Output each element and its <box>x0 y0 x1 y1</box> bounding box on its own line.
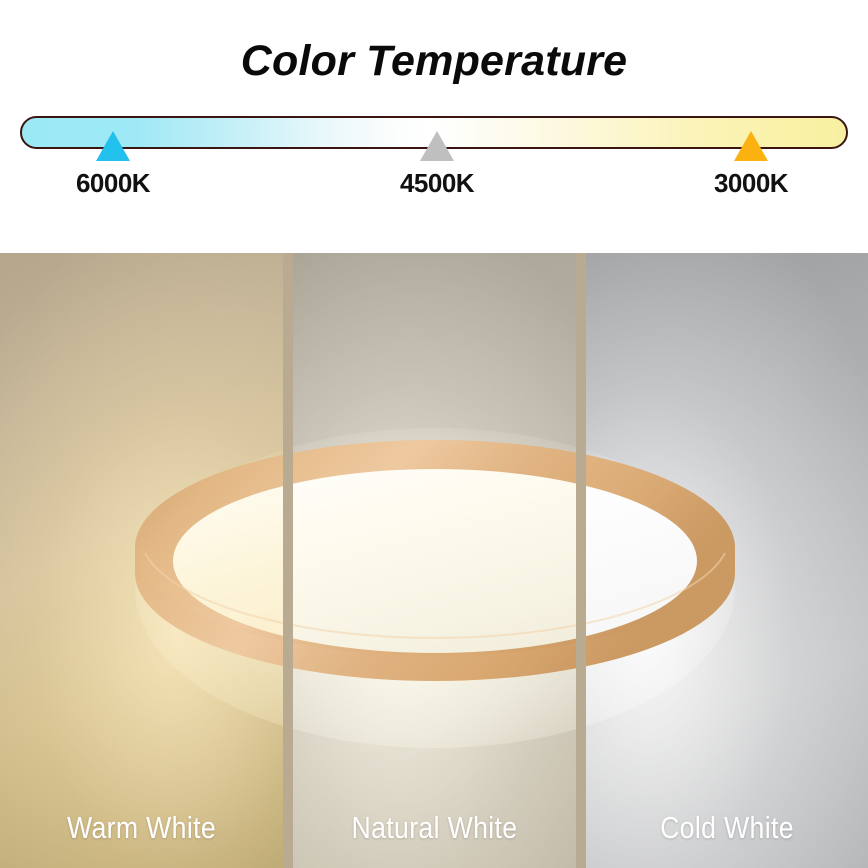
scale-label-3000k: 3000K <box>671 168 831 199</box>
cold-white-ambience <box>586 253 868 868</box>
triangle-up-icon-3000k <box>734 131 768 161</box>
lamp-comparison-photo: Warm White <box>0 253 868 868</box>
infographic-page: Color Temperature 6000K 4500K 3000K <box>0 0 868 868</box>
panel-label-warm-white: Warm White <box>20 810 263 846</box>
panel-label-cold-white: Cold White <box>606 810 849 846</box>
scale-label-4500k: 4500K <box>357 168 517 199</box>
warm-white-ambience <box>0 253 283 868</box>
color-temperature-header: Color Temperature 6000K 4500K 3000K <box>0 0 868 253</box>
panel-cold-white: Cold White <box>586 253 868 868</box>
page-title: Color Temperature <box>0 37 868 86</box>
panel-natural-white: Natural White <box>293 253 576 868</box>
panel-warm-white: Warm White <box>0 253 283 868</box>
triangle-up-icon-6000k <box>96 131 130 161</box>
triangle-up-icon-4500k <box>420 131 454 161</box>
scale-label-6000k: 6000K <box>33 168 193 199</box>
panel-label-natural-white: Natural White <box>313 810 556 846</box>
natural-white-ambience <box>293 253 576 868</box>
